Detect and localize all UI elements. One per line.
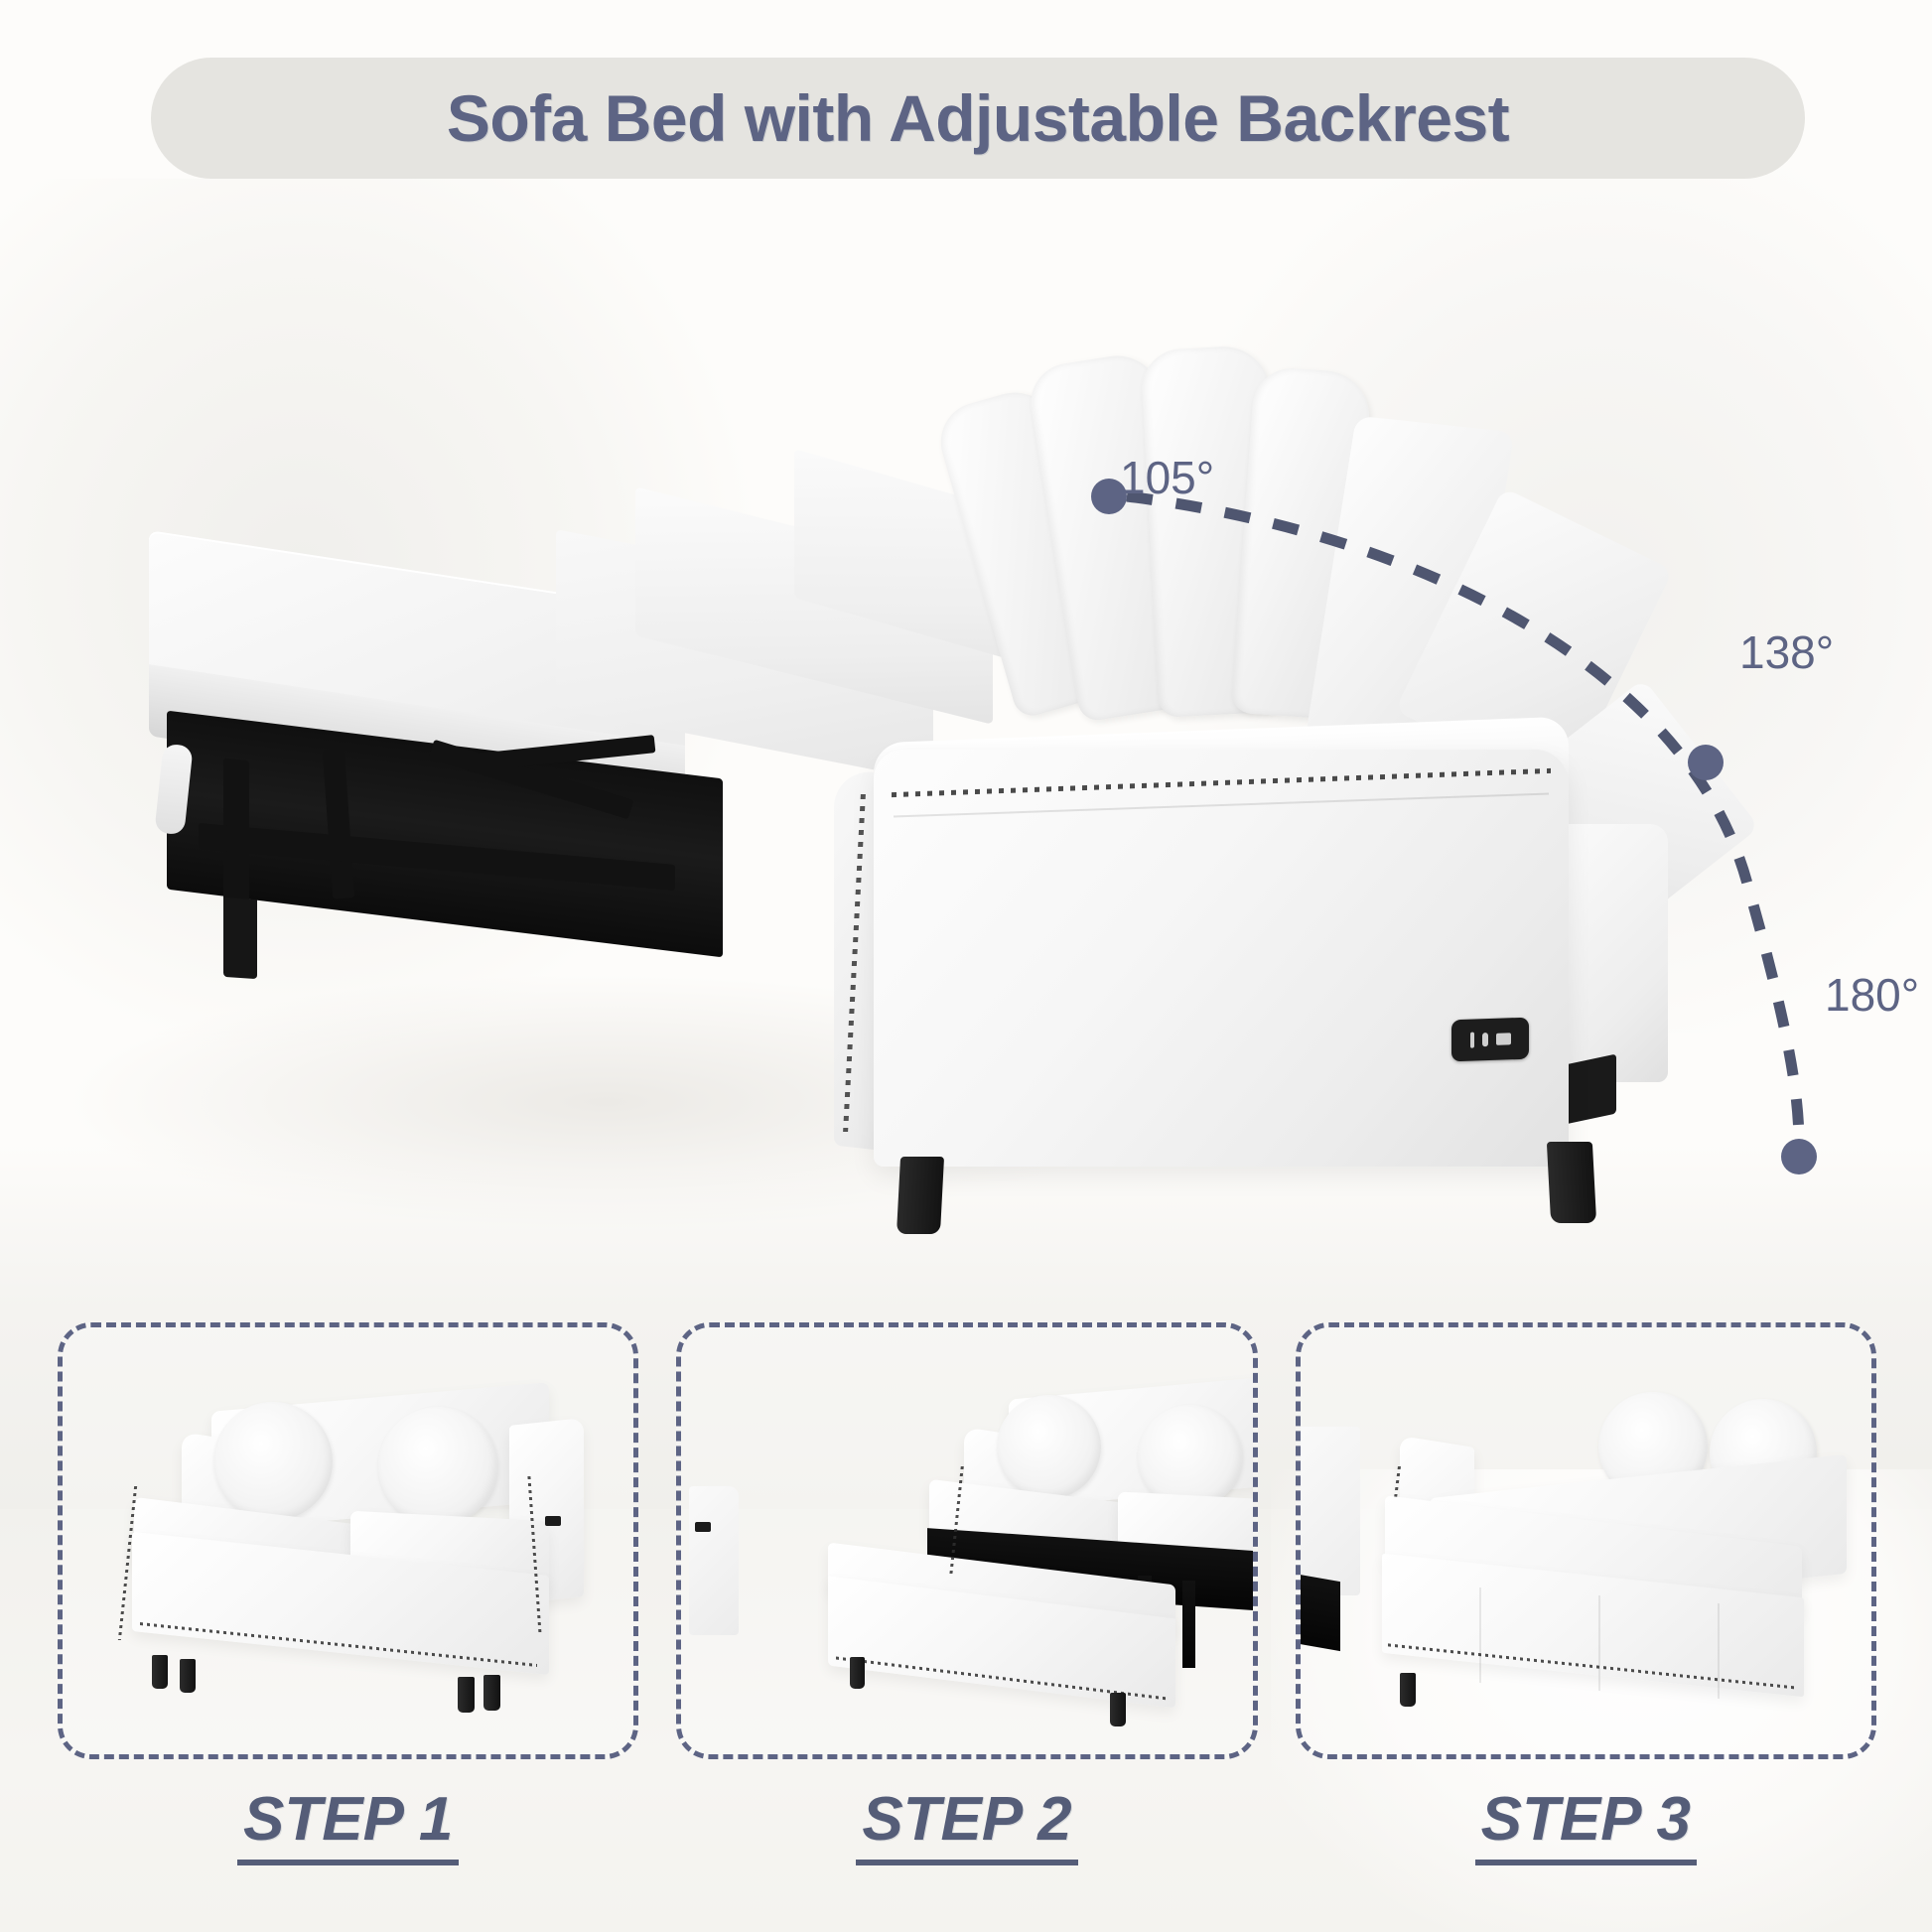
step-label-cell-1: STEP 1	[58, 1787, 638, 1896]
mini-leg	[180, 1659, 196, 1693]
mini-skirt-pleat	[1598, 1595, 1600, 1691]
mini-skirt-pleat	[1718, 1603, 1720, 1699]
mini-leg	[1110, 1693, 1126, 1726]
mini-usb-port-icon	[545, 1516, 561, 1526]
mini-leg	[458, 1677, 475, 1713]
step-label-3: STEP 3	[1475, 1787, 1697, 1865]
mini-neighbor-armrest	[689, 1486, 739, 1635]
mini-skirt-pleat	[1479, 1587, 1481, 1683]
page-title: Sofa Bed with Adjustable Backrest	[447, 80, 1509, 156]
mini-round-pillow	[378, 1407, 497, 1526]
angle-label-105: 105°	[1120, 451, 1214, 504]
title-banner: Sofa Bed with Adjustable Backrest	[151, 58, 1805, 179]
angle-marker-138-dot	[1688, 745, 1724, 780]
step-label-row: STEP 1 STEP 2 STEP 3	[58, 1787, 1876, 1896]
step-panel-3[interactable]	[1296, 1322, 1876, 1759]
step-label-cell-3: STEP 3	[1296, 1787, 1876, 1896]
mini-leg	[152, 1655, 168, 1689]
step-label-2: STEP 2	[856, 1787, 1077, 1865]
step-label-1: STEP 1	[237, 1787, 459, 1865]
step-panel-2[interactable]	[676, 1322, 1257, 1759]
arc-path	[1127, 496, 1799, 1144]
step-label-cell-2: STEP 2	[676, 1787, 1257, 1896]
angle-label-180: 180°	[1825, 968, 1919, 1022]
step-panels	[58, 1322, 1876, 1759]
recline-angle-arc	[0, 189, 1932, 1291]
mini-round-pillow	[213, 1402, 333, 1521]
mini-neighbor-frame	[1296, 1570, 1340, 1651]
hero-product-image: 105° 138° 180°	[0, 189, 1932, 1291]
mini-frame-strut	[1182, 1581, 1195, 1668]
mini-round-pillow	[997, 1395, 1101, 1499]
step-panel-1[interactable]	[58, 1322, 638, 1759]
mini-usb-port-icon	[695, 1522, 711, 1532]
angle-label-138: 138°	[1739, 625, 1834, 679]
mini-leg	[483, 1675, 500, 1711]
mini-leg	[1400, 1673, 1416, 1707]
infographic-canvas: Sofa Bed with Adjustable Backrest	[0, 0, 1932, 1932]
mini-neighbor-body	[1296, 1427, 1360, 1595]
mini-leg	[850, 1657, 865, 1689]
angle-marker-180-dot	[1781, 1139, 1817, 1174]
